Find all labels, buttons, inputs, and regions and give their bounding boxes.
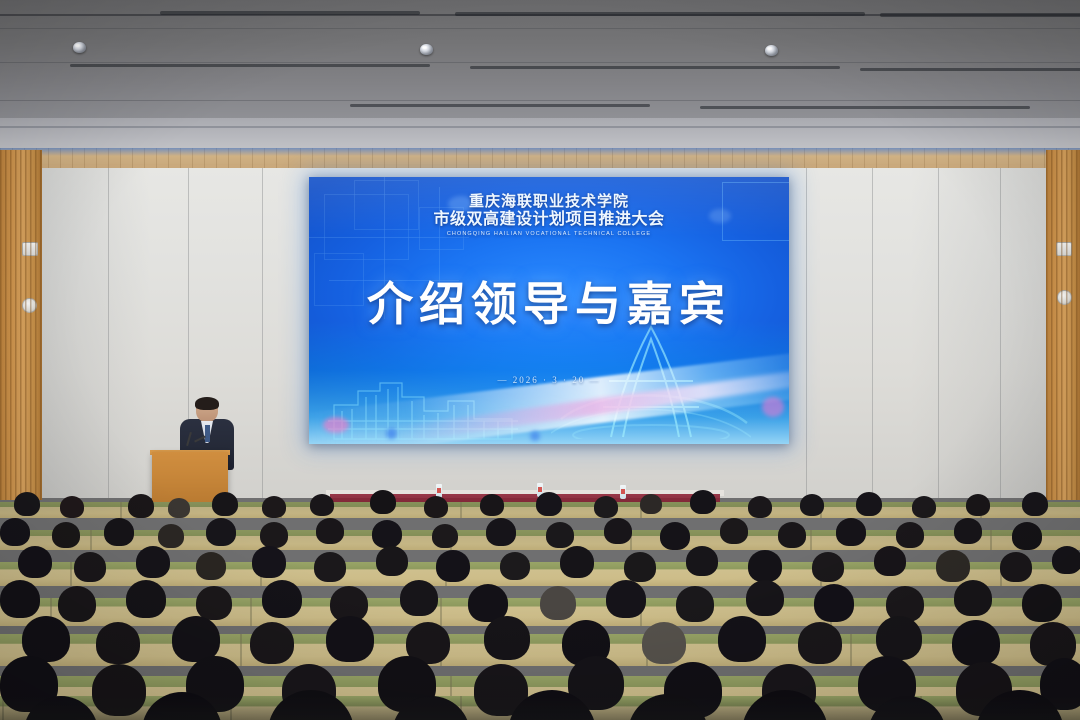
- audience-head: [0, 580, 40, 618]
- audience-head: [966, 494, 990, 516]
- audience-head: [96, 622, 140, 664]
- audience-head: [856, 492, 882, 516]
- audience-head: [1052, 546, 1080, 574]
- audience-head: [912, 496, 936, 518]
- audience-head: [250, 622, 294, 664]
- audience-seating-area: [0, 484, 1080, 720]
- slide-canvas: 重庆海联职业技术学院 市级双高建设计划项目推进大会 CHONGQING HAIL…: [309, 177, 789, 444]
- audience-head: [836, 518, 866, 546]
- audience-head: [196, 552, 226, 580]
- audience-head: [690, 490, 716, 514]
- audience-head: [546, 522, 574, 548]
- audience-head: [18, 546, 52, 578]
- audience-head: [158, 524, 184, 548]
- audience-head: [874, 546, 906, 576]
- audience-head: [262, 496, 286, 518]
- ceiling-spotlight-center: [420, 44, 433, 55]
- audience-head: [326, 616, 374, 662]
- audience-head: [746, 580, 784, 616]
- slide-header-line1: 重庆海联职业技术学院: [309, 194, 789, 211]
- audience-head: [212, 492, 238, 516]
- audience-head: [126, 580, 166, 618]
- audience-head: [252, 546, 286, 578]
- audience-head: [196, 586, 232, 620]
- audience-head: [536, 492, 562, 516]
- audience-head: [686, 546, 718, 576]
- audience-head: [400, 580, 438, 616]
- conference-hall-photo: 重庆海联职业技术学院 市级双高建设计划项目推进大会 CHONGQING HAIL…: [0, 0, 1080, 720]
- audience-head: [168, 498, 190, 518]
- audience-head: [486, 518, 516, 546]
- audience-head: [1012, 522, 1042, 550]
- audience-head: [500, 552, 530, 580]
- audience-head: [58, 586, 96, 622]
- audience-head: [424, 496, 448, 518]
- audience-head: [206, 518, 236, 546]
- audience-head: [316, 518, 344, 544]
- audience-head: [314, 552, 346, 582]
- wall-plate-right: [1056, 242, 1072, 256]
- audience-head: [14, 492, 40, 516]
- slide-header: 重庆海联职业技术学院 市级双高建设计划项目推进大会 CHONGQING HAIL…: [309, 194, 789, 237]
- audience-head: [606, 580, 646, 618]
- audience-head: [370, 490, 396, 514]
- audience-head: [720, 518, 748, 544]
- audience-head: [372, 520, 402, 548]
- audience-head: [812, 552, 844, 582]
- audience-head: [936, 550, 970, 582]
- audience-head: [260, 522, 288, 548]
- audience-head: [0, 518, 30, 546]
- audience-head: [128, 494, 154, 518]
- audience-head: [642, 622, 686, 664]
- presentation-screen[interactable]: 重庆海联职业技术学院 市级双高建设计划项目推进大会 CHONGQING HAIL…: [309, 177, 789, 444]
- speaker-tie: [205, 425, 210, 442]
- audience-head: [952, 620, 1000, 666]
- audience-head: [1022, 584, 1062, 622]
- audience-head: [136, 546, 170, 578]
- audience-head: [718, 616, 766, 662]
- audience-head: [676, 586, 714, 622]
- ceiling-spotlight-left: [73, 42, 86, 53]
- audience-head: [800, 494, 824, 516]
- audience-head: [798, 622, 842, 664]
- audience-head: [310, 494, 334, 516]
- audience-head: [104, 518, 134, 546]
- audience-head: [484, 616, 530, 660]
- audience-head: [60, 496, 84, 518]
- audience-head: [954, 580, 992, 616]
- wall-speaker-right: [1057, 290, 1072, 305]
- audience-head: [540, 586, 576, 620]
- audience-head: [778, 522, 806, 548]
- audience-head: [814, 584, 854, 622]
- speaker-hair: [195, 397, 219, 410]
- wall-speaker-left: [22, 298, 37, 313]
- audience-head: [604, 518, 632, 544]
- audience-head: [660, 522, 690, 550]
- audience-head: [74, 552, 106, 582]
- audience-head: [1000, 552, 1032, 582]
- wood-slat-column-left: [0, 150, 42, 500]
- audience-head: [748, 550, 782, 582]
- foreground-shadow: [0, 696, 1080, 720]
- wood-slat-column-right: [1046, 150, 1080, 500]
- slide-bokeh-2: [386, 428, 397, 439]
- wall-plate-left: [22, 242, 38, 256]
- audience-head: [432, 524, 458, 548]
- ceiling-spotlight-right: [765, 45, 778, 56]
- audience-head: [640, 494, 662, 514]
- audience-head: [594, 496, 618, 518]
- audience-head: [624, 552, 656, 582]
- audience-head: [480, 494, 504, 516]
- audience-head: [560, 546, 594, 578]
- audience-head: [748, 496, 772, 518]
- screen-spill-light: [0, 148, 1080, 156]
- slide-main-title: 介绍领导与嘉宾: [309, 268, 789, 334]
- audience-head: [376, 546, 408, 576]
- audience-head: [52, 522, 80, 548]
- slide-header-line2: 市级双高建设计划项目推进大会: [309, 211, 789, 229]
- audience-head: [896, 522, 924, 548]
- audience-head: [876, 616, 922, 660]
- audience-head: [436, 550, 470, 582]
- audience-head: [262, 580, 302, 618]
- audience-head: [954, 518, 982, 544]
- slide-header-english: CHONGQING HAILIAN VOCATIONAL TECHNICAL C…: [309, 231, 789, 237]
- slide-date: — 2026 · 3 · 20 —: [309, 375, 789, 385]
- audience-head: [1022, 492, 1048, 516]
